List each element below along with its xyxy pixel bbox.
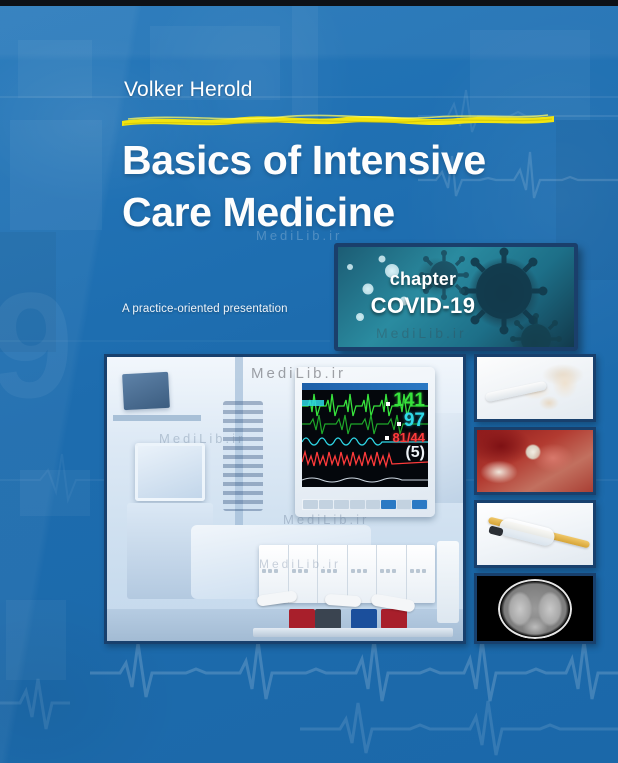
- pump-tubing-2: [325, 594, 362, 607]
- icu-ventilator-screen: [135, 443, 205, 501]
- pump-key[interactable]: [304, 569, 308, 573]
- pump-key[interactable]: [298, 569, 302, 573]
- pump-key[interactable]: [292, 569, 296, 573]
- vital-heart-rate-row: 141: [365, 391, 425, 410]
- pump-key[interactable]: [268, 569, 272, 573]
- pump-connector-red-2: [381, 609, 407, 629]
- pump-base-rail: [253, 628, 453, 637]
- monitor-button[interactable]: [397, 500, 412, 509]
- background-shape-panel-left: [10, 120, 102, 230]
- pump-keypad[interactable]: [292, 569, 308, 573]
- bronchoscopy-image: [477, 430, 593, 492]
- monitor-button-active[interactable]: [412, 500, 427, 509]
- pump-side-column: [437, 541, 459, 623]
- photo-airway-manikin: [474, 354, 596, 422]
- pump-keypad[interactable]: [351, 569, 367, 573]
- monitor-button[interactable]: [319, 500, 334, 509]
- background-ghost-digit: 9: [0, 270, 73, 420]
- icu-wall-shelf: [113, 415, 201, 421]
- title-line-2: Care Medicine: [122, 186, 562, 238]
- vital-bp-row: 81/44: [365, 431, 425, 444]
- yellow-brush-underline: [118, 110, 558, 128]
- monitor-button[interactable]: [334, 500, 349, 509]
- pump-key[interactable]: [386, 569, 390, 573]
- pump-key[interactable]: [392, 569, 396, 573]
- title-line-1: Basics of Intensive: [122, 134, 562, 186]
- vital-spo2: 97: [404, 411, 425, 430]
- monitor-button[interactable]: [303, 500, 318, 509]
- icu-cable-bundle: [223, 401, 263, 511]
- covid19-chapter-badge: chapter COVID-19 MediLib.ir: [334, 243, 578, 351]
- pump-module[interactable]: [407, 545, 436, 603]
- author-name: Volker Herold: [124, 78, 253, 102]
- pump-key[interactable]: [333, 569, 337, 573]
- pump-key[interactable]: [351, 569, 355, 573]
- icu-wall-monitor: [122, 372, 170, 410]
- spo2-marker-icon: [397, 422, 401, 426]
- bp-marker-icon: [385, 436, 389, 440]
- hr-marker-icon: [386, 402, 390, 406]
- pump-connector-dark: [315, 609, 341, 629]
- monitor-vitals-panel: 141 97 81/44 (5): [365, 391, 425, 462]
- covid-topic-label: COVID-19: [338, 293, 508, 319]
- infusion-pump-stack: [247, 533, 463, 637]
- photo-icu-ward: MediLib.ir MediLib.ir MediLib.ir MediLib…: [104, 354, 466, 644]
- pump-key[interactable]: [321, 569, 325, 573]
- vital-map: (5): [405, 445, 425, 461]
- pump-connector-blue: [351, 609, 377, 629]
- pump-module[interactable]: [348, 545, 378, 603]
- book-cover: 9 Volker Herold Basics of Intensive Care…: [0, 0, 618, 763]
- pump-key[interactable]: [380, 569, 384, 573]
- monitor-button[interactable]: [366, 500, 381, 509]
- vital-heart-rate: 141: [393, 391, 425, 410]
- photo-bronchoscopy-view: [474, 427, 596, 495]
- pump-key[interactable]: [363, 569, 367, 573]
- vital-spo2-row: 97: [365, 411, 425, 430]
- monitor-button[interactable]: [350, 500, 365, 509]
- photo-head-ct-scan: [474, 573, 596, 644]
- monitor-button-bar[interactable]: [302, 499, 428, 510]
- pump-connector-red: [289, 609, 315, 629]
- monitor-button-active[interactable]: [381, 500, 396, 509]
- pump-keypad[interactable]: [321, 569, 337, 573]
- pump-key[interactable]: [262, 569, 266, 573]
- cover-subtitle: A practice-oriented presentation: [122, 303, 288, 315]
- pump-keypad[interactable]: [380, 569, 396, 573]
- pump-keypad[interactable]: [410, 569, 426, 573]
- vital-map-row: (5): [365, 445, 425, 461]
- pump-key[interactable]: [410, 569, 414, 573]
- page-title: Basics of Intensive Care Medicine: [122, 134, 562, 238]
- background-shape-column-mid: [292, 0, 318, 120]
- photo-collage: MediLib.ir MediLib.ir MediLib.ir MediLib…: [104, 354, 596, 644]
- pump-key[interactable]: [327, 569, 331, 573]
- pump-keypad[interactable]: [262, 569, 278, 573]
- pump-key[interactable]: [416, 569, 420, 573]
- pump-key[interactable]: [422, 569, 426, 573]
- vital-blood-pressure: 81/44: [392, 431, 425, 444]
- photo-introducer-instrument: [474, 500, 596, 568]
- patient-monitor: 141 97 81/44 (5): [295, 367, 435, 517]
- covid-chapter-label: chapter: [338, 269, 508, 290]
- pump-key[interactable]: [274, 569, 278, 573]
- pump-key[interactable]: [357, 569, 361, 573]
- top-edge-bar: [0, 0, 618, 6]
- background-shape-monitor-left: [18, 40, 92, 98]
- ct-brain-slice: [498, 579, 572, 639]
- background-ecg-bottom: [0, 633, 618, 763]
- monitor-screen: 141 97 81/44 (5): [302, 383, 428, 487]
- monitor-status-bar: [302, 383, 428, 390]
- covid-badge-text: chapter COVID-19: [338, 269, 508, 319]
